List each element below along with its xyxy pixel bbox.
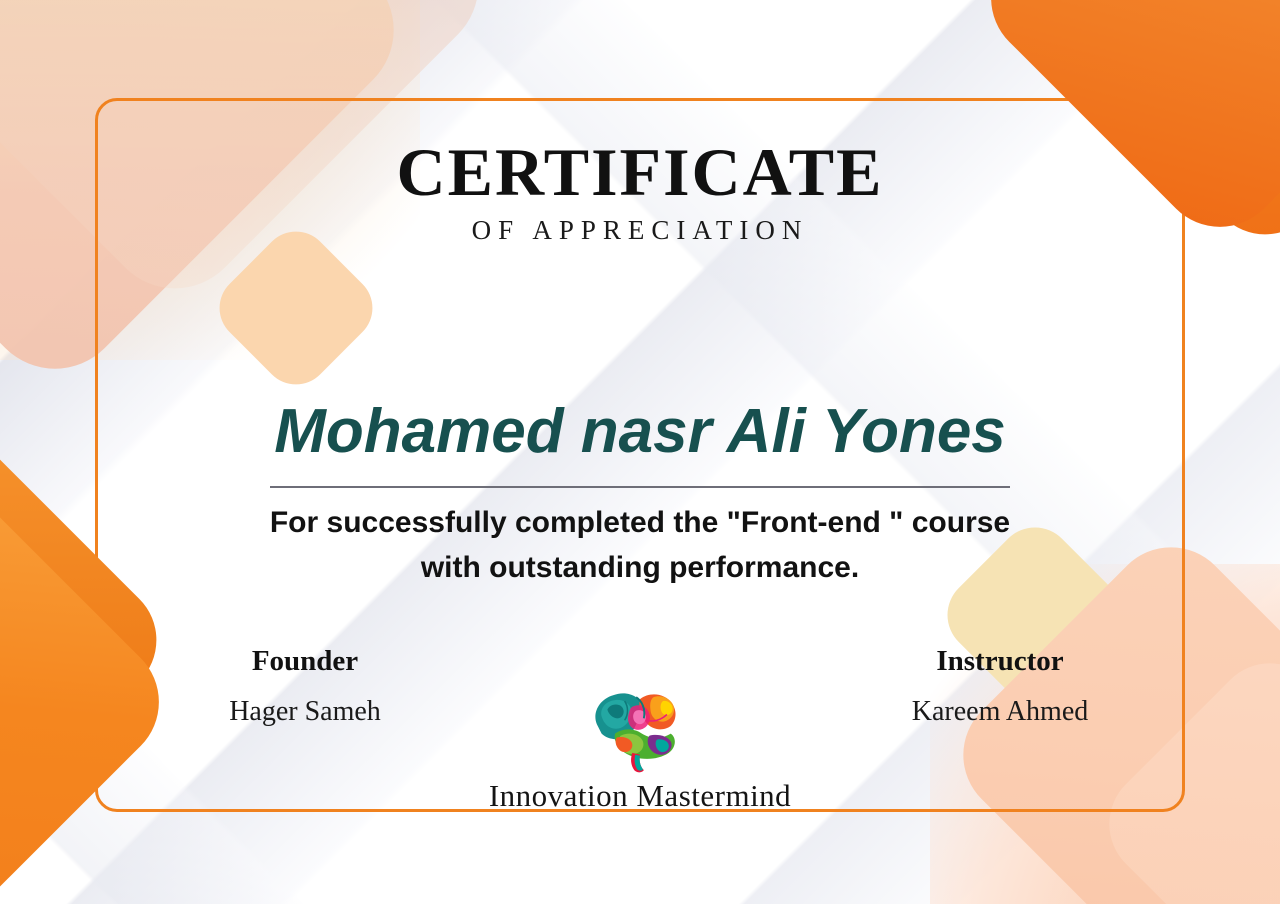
certificate-subtitle: OF APPRECIATION	[0, 215, 1280, 246]
certificate-content: CERTIFICATE OF APPRECIATION Mohamed nasr…	[0, 0, 1280, 904]
recipient-name: Mohamed nasr Ali Yones	[0, 398, 1280, 466]
citation-line-2: with outstanding performance.	[160, 545, 1120, 590]
citation-text: For successfully completed the "Front-en…	[160, 500, 1120, 590]
brain-logo-icon	[582, 678, 698, 774]
certificate-canvas: CERTIFICATE OF APPRECIATION Mohamed nasr…	[0, 0, 1280, 904]
signature-role-founder: Founder	[155, 644, 455, 679]
citation-line-1: For successfully completed the "Front-en…	[160, 500, 1120, 545]
recipient-underline-rule	[270, 486, 1010, 488]
certificate-title: CERTIFICATE	[0, 138, 1280, 206]
signature-role-instructor: Instructor	[850, 644, 1150, 679]
brand-block: Innovation Mastermind	[0, 678, 1280, 814]
brand-name: Innovation Mastermind	[0, 778, 1280, 814]
